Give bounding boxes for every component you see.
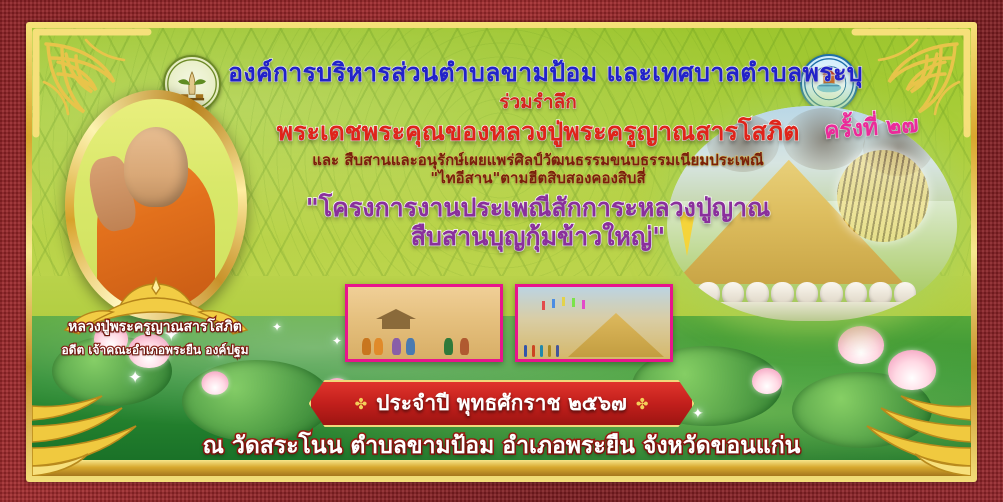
crowd-figure bbox=[532, 345, 535, 357]
monk-head bbox=[124, 127, 188, 207]
venue-line: ณ วัดสระโนน ตำบลขามป้อม อำเภอพระยืน จังห… bbox=[32, 428, 971, 464]
event-banner: ✦ ✦ ✦ ✦ ✦ ✦ bbox=[0, 0, 1003, 502]
bunting-flag bbox=[562, 297, 565, 306]
year-ribbon-wrap: ✤ ประจำปี พุทธศักราช ๒๕๖๗ ✤ bbox=[32, 380, 971, 427]
lotus-flower bbox=[838, 326, 884, 364]
sparkle-icon: ✦ bbox=[332, 334, 342, 348]
villager-figure bbox=[406, 338, 415, 355]
monk-name: หลวงปู่พระครูญาณสารโสภิต bbox=[40, 316, 270, 338]
monk-portrait bbox=[65, 90, 247, 320]
monk-caption: หลวงปู่พระครูญาณสารโสภิต อดีต เจ้าคณะอำเ… bbox=[40, 316, 270, 360]
commemorate-label: ร่วมรำลึก bbox=[228, 93, 848, 112]
villager-figure bbox=[444, 338, 453, 355]
subtitle-line-2: "ไทอีสาน"ตามฮีตสิบสองคองสิบสี่ bbox=[228, 171, 848, 186]
organization-title: องค์การบริหารส่วนตำบลขามป้อม และเทศบาลตำ… bbox=[228, 60, 848, 85]
rice-scene-ground bbox=[667, 302, 957, 321]
year-text: ประจำปี พุทธศักราช ๒๕๖๗ bbox=[376, 387, 627, 420]
crowd-figure bbox=[540, 345, 543, 357]
bunting-flag bbox=[582, 300, 585, 309]
ribbon-ornament-left-icon: ✤ bbox=[355, 395, 368, 413]
bunting-flag bbox=[552, 299, 555, 308]
ribbon-ornament-right-icon: ✤ bbox=[636, 395, 649, 413]
banner-stage: ✦ ✦ ✦ ✦ ✦ ✦ bbox=[32, 28, 971, 476]
golden-rice-stalks-inset bbox=[837, 150, 929, 242]
villager-figure bbox=[392, 338, 401, 355]
village-hut bbox=[376, 309, 416, 329]
monk-title: อดีต เจ้าคณะอำเภอพระยืน องค์ปฐม bbox=[40, 341, 270, 360]
crowd-figure bbox=[556, 345, 559, 357]
project-title-line-1: "โครงการงานประเพณีสักการะหลวงปู่ญาณ bbox=[228, 195, 848, 220]
bunting-flag bbox=[572, 298, 575, 307]
rural-village-painting bbox=[345, 284, 503, 362]
villager-figure bbox=[362, 338, 371, 355]
crowd-figure bbox=[524, 345, 527, 357]
year-ribbon: ✤ ประจำปี พุทธศักราช ๒๕๖๗ ✤ bbox=[309, 380, 695, 427]
headline-text-block: องค์การบริหารส่วนตำบลขามป้อม และเทศบาลตำ… bbox=[228, 52, 848, 249]
crowd-figure bbox=[548, 345, 551, 357]
sparkle-icon: ✦ bbox=[272, 320, 282, 334]
villager-figure bbox=[374, 338, 383, 355]
subtitle-line-1: และ สืบสานและอนุรักษ์เผยแพร่ศิลป์วัฒนธรร… bbox=[228, 153, 848, 168]
villager-figure bbox=[460, 338, 469, 355]
bunting-flag bbox=[542, 301, 545, 310]
festival-rice-heap bbox=[568, 313, 664, 357]
rice-heap-festival-photo bbox=[515, 284, 673, 362]
honoree-title: พระเดชพระคุณของหลวงปู่พระครูญาณสารโสภิต bbox=[228, 119, 848, 144]
project-title-line-2: สืบสานบุญกุ้มข้าวใหญ่" bbox=[228, 224, 848, 249]
edition-badge: ครั้งที่ ๒๗ bbox=[823, 107, 920, 150]
